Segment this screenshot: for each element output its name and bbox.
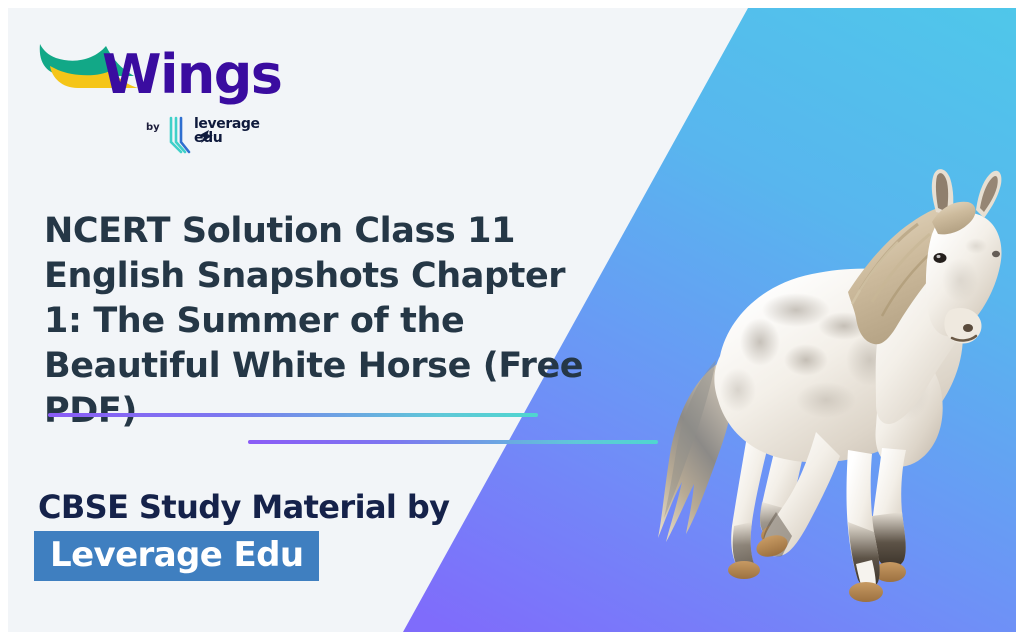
brand-badge: Leverage Edu <box>34 531 319 581</box>
leverage-edu-sublogo: leverage edu <box>167 116 267 156</box>
divider-line-secondary <box>248 440 658 444</box>
sublogo-line-2: edu <box>194 132 260 146</box>
poster-card: Wings by leverage edu NCERT Solution Cla… <box>8 8 1016 632</box>
wings-wordmark: Wings <box>102 48 281 102</box>
white-horse-illustration <box>620 160 1016 612</box>
leverage-edu-text: leverage edu <box>194 118 260 145</box>
brand-badge-label: Leverage Edu <box>50 535 303 575</box>
wings-by-label: by <box>146 122 160 133</box>
divider-line-primary <box>48 413 538 417</box>
page-title: NCERT Solution Class 11 English Snapshot… <box>44 209 604 433</box>
poster-canvas: Wings by leverage edu NCERT Solution Cla… <box>0 0 1024 640</box>
subtitle: CBSE Study Material by <box>38 488 449 526</box>
wings-logo[interactable]: Wings by leverage edu <box>34 30 264 150</box>
